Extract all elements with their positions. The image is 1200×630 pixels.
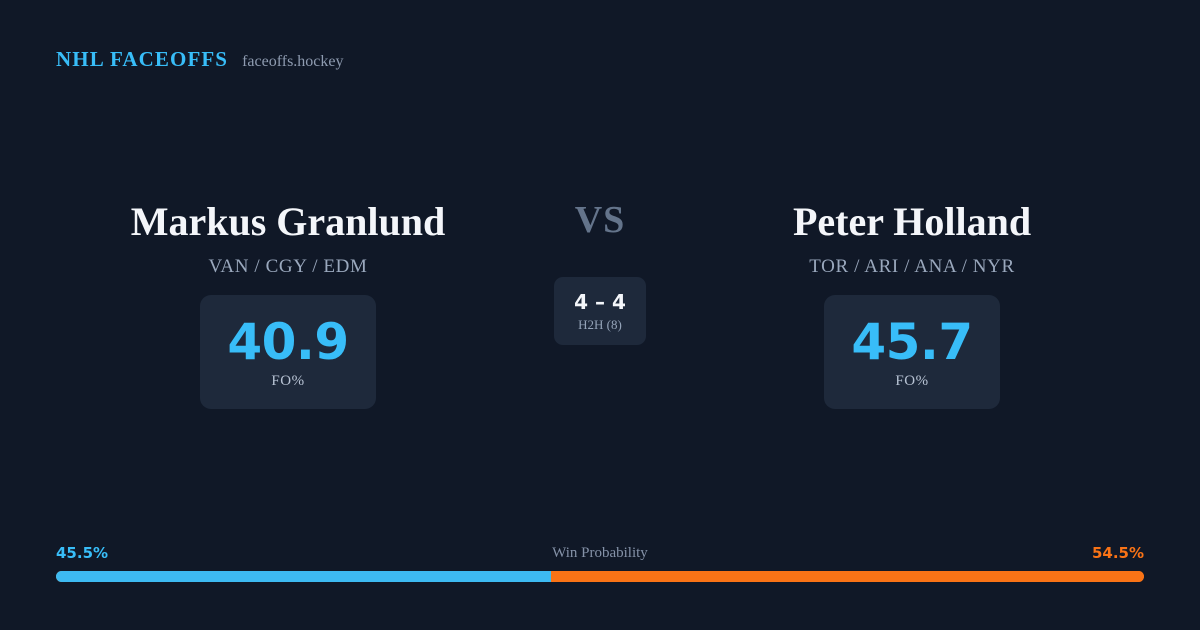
win-probability-title: Win Probability — [56, 543, 1144, 563]
player-name-left: Markus Granlund — [78, 196, 498, 248]
win-probability-bar-left-fill — [56, 571, 551, 582]
site-header: NHL FACEOFFS faceoffs.hockey — [56, 47, 344, 72]
brand-domain-label: faceoffs.hockey — [242, 53, 343, 71]
stat-card-right: 45.7 FO% — [824, 295, 1000, 409]
player-name-right: Peter Holland — [702, 196, 1122, 248]
player-panel-right: Peter Holland TOR / ARI / ANA / NYR 45.7… — [702, 196, 1122, 409]
faceoff-pct-label-left: FO% — [271, 373, 304, 390]
player-teams-right: TOR / ARI / ANA / NYR — [702, 256, 1122, 278]
head-to-head-card: 4 – 4 H2H (8) — [554, 277, 646, 345]
win-probability-section: 45.5% Win Probability 54.5% — [56, 543, 1144, 582]
brand-wordmark: NHL FACEOFFS — [56, 47, 228, 72]
faceoff-pct-value-left: 40.9 — [227, 315, 348, 369]
faceoff-pct-value-right: 45.7 — [851, 315, 972, 369]
stat-card-left: 40.9 FO% — [200, 295, 376, 409]
faceoff-pct-label-right: FO% — [895, 373, 928, 390]
player-panel-left: Markus Granlund VAN / CGY / EDM 40.9 FO% — [78, 196, 498, 409]
matchup-poster: NHL FACEOFFS faceoffs.hockey Markus Gran… — [0, 0, 1200, 630]
win-probability-labels: 45.5% Win Probability 54.5% — [56, 543, 1144, 563]
win-probability-bar — [56, 571, 1144, 582]
win-probability-right-pct: 54.5% — [1092, 543, 1144, 563]
player-teams-left: VAN / CGY / EDM — [78, 256, 498, 278]
win-probability-bar-right-fill — [551, 571, 1144, 582]
versus-label: VS — [500, 196, 700, 244]
head-to-head-label: H2H (8) — [578, 317, 622, 333]
head-to-head-score: 4 – 4 — [574, 290, 626, 314]
versus-column: VS 4 – 4 H2H (8) — [500, 196, 700, 345]
matchup-section: Markus Granlund VAN / CGY / EDM 40.9 FO%… — [0, 196, 1200, 426]
